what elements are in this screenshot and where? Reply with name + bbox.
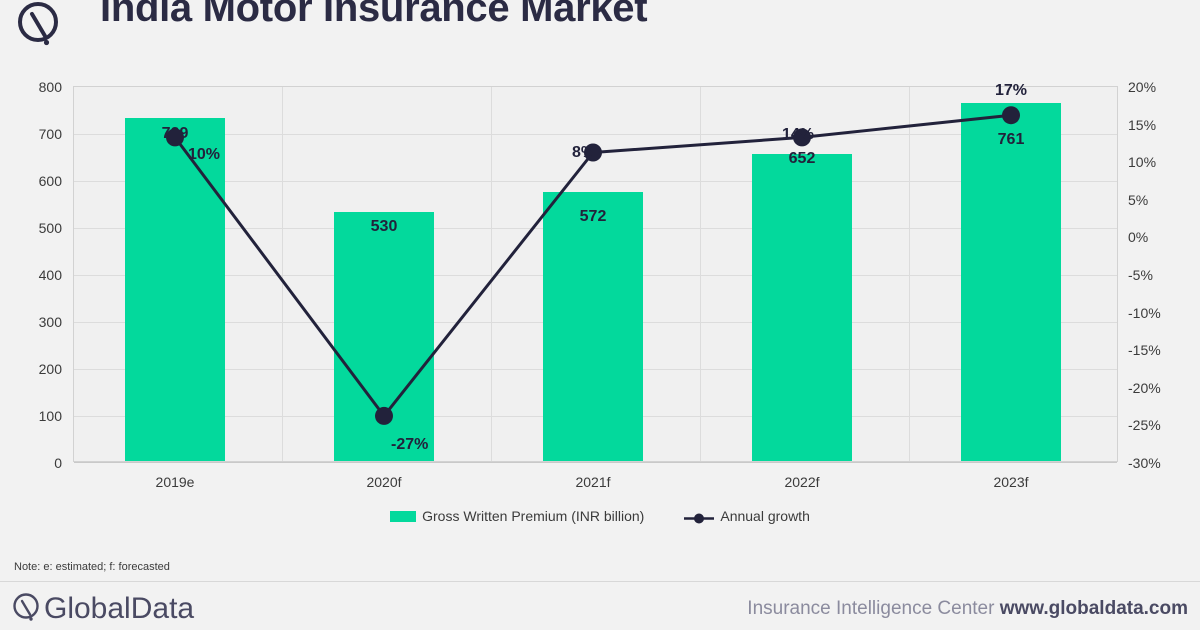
y-axis-right-tick: 5% [1128,192,1188,208]
x-axis-tick-2020f: 2020f [284,474,484,490]
growth-label-2020f: -27% [391,436,428,454]
legend-item-annual-growth[interactable]: Annual growth [684,508,810,524]
footer-center-name: Insurance Intelligence Center [747,598,994,619]
y-axis-right-tick: -20% [1128,380,1188,396]
page-title: India Motor Insurance Market [100,0,647,31]
y-axis-right-tick: -5% [1128,267,1188,283]
globaldata-circle-slash-icon [12,0,68,52]
y-axis-right-tick: -10% [1128,305,1188,321]
footer-url[interactable]: www.globaldata.com [1000,598,1188,619]
legend-line-marker-icon [684,511,714,522]
y-axis-right-tick: -25% [1128,417,1188,433]
y-axis-right-tick: -30% [1128,455,1188,471]
data-point-2020f [375,407,393,425]
y-axis-right-tick: 10% [1128,154,1188,170]
growth-line-series [73,86,1118,462]
footer-logo-text: GlobalData [44,592,194,626]
page-footer: GlobalData Insurance Intelligence Center… [0,582,1200,630]
legend-item-gross-written-premium[interactable]: Gross Written Premium (INR billion) [390,508,644,524]
y-axis-left-tick: 600 [0,173,62,189]
growth-label-2023f: 17% [995,82,1027,100]
y-axis-left-tick: 0 [0,455,62,471]
growth-label-2022f: 14% [782,126,814,144]
y-axis-left-tick: 500 [0,220,62,236]
globaldata-circle-slash-icon [10,590,44,624]
growth-label-2021f: 8% [572,144,595,162]
data-point-2019e [166,128,184,146]
y-axis-left-tick: 100 [0,408,62,424]
x-axis-tick-2021f: 2021f [493,474,693,490]
chart-legend: Gross Written Premium (INR billion) Annu… [0,508,1200,524]
legend-label-annual-growth: Annual growth [720,508,810,524]
x-axis-tick-2022f: 2022f [702,474,902,490]
y-axis-left-tick: 800 [0,79,62,95]
growth-label-2019e: 10% [188,146,220,164]
footer-attribution: Insurance Intelligence Center www.global… [747,598,1188,620]
legend-swatch-icon [390,511,416,522]
chart-page: India Motor Insurance Market 800 700 600… [0,0,1200,630]
y-axis-left-tick: 300 [0,314,62,330]
x-axis-tick-2019e: 2019e [75,474,275,490]
y-axis-left-tick: 400 [0,267,62,283]
y-axis-right-tick: 0% [1128,229,1188,245]
axis-baseline [74,462,1117,463]
y-axis-left-tick: 700 [0,126,62,142]
legend-label-gross-written-premium: Gross Written Premium (INR billion) [422,508,644,524]
y-axis-right-tick: -15% [1128,342,1188,358]
chart-header: India Motor Insurance Market [0,0,1200,58]
data-point-2023f [1002,106,1020,124]
chart-note: Note: e: estimated; f: forecasted [14,561,170,573]
y-axis-left-tick: 200 [0,361,62,377]
y-axis-right-tick: 20% [1128,79,1188,95]
x-axis-tick-2023f: 2023f [911,474,1111,490]
y-axis-right-tick: 15% [1128,117,1188,133]
